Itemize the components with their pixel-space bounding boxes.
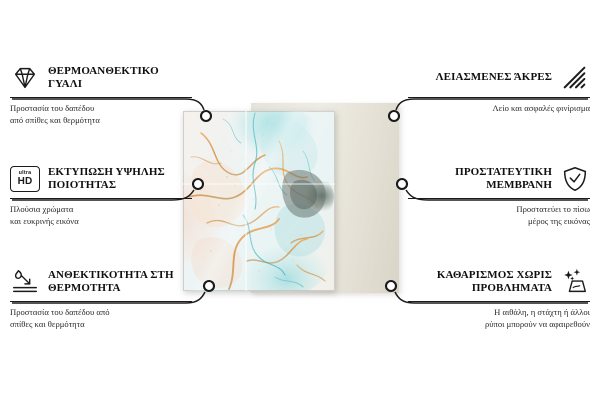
feature-description: Πλούσια χρώματα και ευκρινής εικόνα bbox=[10, 203, 192, 227]
feature-header: ΠΡΟΣΤΑΤΕΥΤΙΚΗ ΜΕΜΒΡΑΝΗ bbox=[408, 163, 590, 195]
feature-divider bbox=[10, 301, 192, 302]
feature-heat-resistant-glass: ΘΕΡΜΟΑΝΘΕΚΤΙΚΟ ΓΥΑΛΙ Προστασία του δαπέδ… bbox=[10, 62, 192, 126]
connector-node-membrane bbox=[397, 179, 407, 189]
connector-node-heat-glass bbox=[201, 111, 211, 121]
feature-description: Προστασία του δαπέδου από σπίθες και θερ… bbox=[10, 306, 192, 330]
infographic-canvas: ΘΕΡΜΟΑΝΘΕΚΤΙΚΟ ΓΥΑΛΙ Προστασία του δαπέδ… bbox=[0, 0, 600, 400]
feature-description: Λείο και ασφαλές φινίρισμα bbox=[408, 102, 590, 114]
feature-header: ΛΕΙΑΣΜΕΝΕΣ ΆΚΡΕΣ bbox=[408, 62, 590, 94]
feature-description: Προστασία του δαπέδου από σπίθες και θερ… bbox=[10, 102, 192, 126]
ultra-hd-icon-label-bottom: HD bbox=[18, 177, 33, 187]
shield-check-icon bbox=[560, 164, 590, 194]
connector-node-cleaning bbox=[386, 281, 396, 291]
feature-description: Προστατεύει το πίσω μέρος της εικόνας bbox=[408, 203, 590, 227]
feature-polished-edges: ΛΕΙΑΣΜΕΝΕΣ ΆΚΡΕΣ Λείο και ασφαλές φινίρι… bbox=[408, 62, 590, 114]
connector-node-heat-res bbox=[204, 281, 214, 291]
feature-header: ΚΑΘΑΡΙΣΜΟΣ ΧΩΡΙΣ ΠΡΟΒΛΗΜΑΤΑ bbox=[408, 266, 590, 298]
feature-divider bbox=[408, 301, 590, 302]
feature-protective-membrane: ΠΡΟΣΤΑΤΕΥΤΙΚΗ ΜΕΜΒΡΑΝΗ Προστατεύει το πί… bbox=[408, 163, 590, 227]
feature-title: ΠΡΟΣΤΑΤΕΥΤΙΚΗ ΜΕΜΒΡΑΝΗ bbox=[408, 166, 552, 193]
feature-title: ΛΕΙΑΣΜΕΝΕΣ ΆΚΡΕΣ bbox=[408, 71, 552, 84]
sponge-sparkle-icon bbox=[560, 267, 590, 297]
feature-description: Η αιθάλη, η στάχτη ή άλλοι ρύποι μπορούν… bbox=[408, 306, 590, 330]
feature-divider bbox=[10, 198, 192, 199]
feature-high-quality-print: ultra HD ΕΚΤΥΠΩΣΗ ΥΨΗΛΗΣ ΠΟΙΟΤΗΤΑΣ Πλούσ… bbox=[10, 163, 192, 227]
flame-deflect-icon bbox=[10, 267, 40, 297]
feature-title: ΕΚΤΥΠΩΣΗ ΥΨΗΛΗΣ ΠΟΙΟΤΗΤΑΣ bbox=[48, 166, 192, 193]
polished-edge-icon bbox=[560, 63, 590, 93]
feature-heat-durability: ΑΝΘΕΚΤΙΚΟΤΗΤΑ ΣΤΗ ΘΕΡΜΟΤΗΤΑ Προστασία το… bbox=[10, 266, 192, 330]
connector-node-print bbox=[193, 179, 203, 189]
feature-easy-cleaning: ΚΑΘΑΡΙΣΜΟΣ ΧΩΡΙΣ ΠΡΟΒΛΗΜΑΤΑ Η αιθάλη, η … bbox=[408, 266, 590, 330]
feature-title: ΑΝΘΕΚΤΙΚΟΤΗΤΑ ΣΤΗ ΘΕΡΜΟΤΗΤΑ bbox=[48, 269, 192, 296]
feature-divider bbox=[408, 198, 590, 199]
feature-header: ultra HD ΕΚΤΥΠΩΣΗ ΥΨΗΛΗΣ ΠΟΙΟΤΗΤΑΣ bbox=[10, 163, 192, 195]
feature-header: ΑΝΘΕΚΤΙΚΟΤΗΤΑ ΣΤΗ ΘΕΡΜΟΤΗΤΑ bbox=[10, 266, 192, 298]
feature-header: ΘΕΡΜΟΑΝΘΕΚΤΙΚΟ ΓΥΑΛΙ bbox=[10, 62, 192, 94]
connector-node-edges bbox=[389, 111, 399, 121]
feature-divider bbox=[10, 97, 192, 98]
ultra-hd-icon: ultra HD bbox=[10, 166, 40, 192]
feature-divider bbox=[408, 97, 590, 98]
feature-title: ΘΕΡΜΟΑΝΘΕΚΤΙΚΟ ΓΥΑΛΙ bbox=[48, 65, 192, 92]
diamond-icon bbox=[10, 63, 40, 93]
feature-title: ΚΑΘΑΡΙΣΜΟΣ ΧΩΡΙΣ ΠΡΟΒΛΗΜΑΤΑ bbox=[408, 269, 552, 296]
